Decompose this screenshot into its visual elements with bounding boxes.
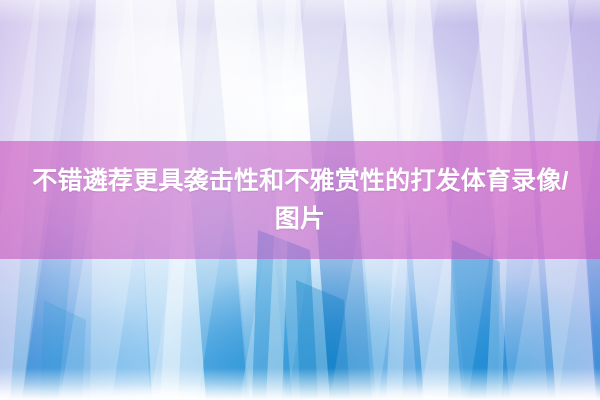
caption-banner: 不错遴荐更具袭击性和不雅赏性的打发体育录像/ 图片 xyxy=(0,141,600,259)
caption-line-1: 不错遴荐更具袭击性和不雅赏性的打发体育录像/ xyxy=(0,162,600,200)
caption-line-2: 图片 xyxy=(0,200,600,238)
image-canvas: 不错遴荐更具袭击性和不雅赏性的打发体育录像/ 图片 xyxy=(0,0,600,400)
